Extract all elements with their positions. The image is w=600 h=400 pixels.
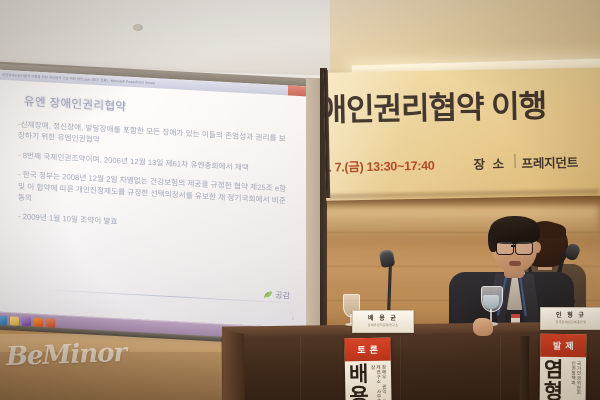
placard-affiliation: 국가인권위원회 인권정책과 bbox=[571, 361, 582, 400]
banner-title: 애인권리협약 이행 bbox=[324, 88, 547, 128]
slide-page-number: 2 bbox=[292, 316, 294, 321]
slide-paragraph: - 한국 정부는 2008년 12월 2일 차별없는 건강보험의 제공을 규정한… bbox=[18, 169, 290, 218]
speaker-badge-header bbox=[511, 314, 520, 318]
speaker-hair bbox=[490, 216, 540, 244]
speaker-ear bbox=[534, 242, 541, 253]
placard-body: 배 용 장애우 권익 문제연구소 사무총장 bbox=[345, 361, 392, 400]
wine-glass-liquid bbox=[483, 295, 499, 309]
projected-slide: 유엔장애인권리협약 이행을 위한 국내법적 기반 마련 방안.pptx [읽기 … bbox=[0, 70, 308, 329]
banner-date: 1. 7.(금) 13:30~17:40 bbox=[324, 155, 435, 176]
banner-venue: 프레지던트 bbox=[521, 152, 578, 172]
table-left-edge bbox=[222, 330, 245, 400]
ie-icon[interactable] bbox=[0, 315, 7, 324]
table-cloth-fold bbox=[300, 336, 301, 400]
slide-paragraph: -신체장애, 정신장애, 발달장애를 포함한 모든 장애가 있는 이들의 존엄성… bbox=[18, 119, 290, 157]
speaker-mouth bbox=[509, 261, 521, 266]
placard-role-header: 발제 bbox=[540, 334, 586, 357]
placard-backing bbox=[520, 336, 530, 400]
name-card-affiliation: 한국장애인단체총연맹 bbox=[556, 320, 587, 324]
name-card-affiliation: 장애우권익문제연구소 bbox=[368, 323, 399, 327]
placard-role: 토론 bbox=[353, 343, 382, 356]
media-player-icon[interactable] bbox=[22, 316, 31, 325]
photo-scene: 유엔장애인권리협약 이행을 위한 국내법적 기반 마련 방안.pptx [읽기 … bbox=[0, 0, 600, 400]
slide-body: -신체장애, 정신장애, 발달장애를 포함한 모든 장애가 있는 이들의 존엄성… bbox=[18, 119, 290, 246]
banner-venue-label: 장 소 bbox=[473, 153, 506, 173]
folder-icon[interactable] bbox=[10, 316, 19, 325]
event-banner: 애인권리협약 이행 1. 7.(금) 13:30~17:40 장 소 프레지던트 bbox=[324, 67, 600, 200]
organization-logo: 공감 bbox=[264, 289, 290, 301]
firefox-icon[interactable] bbox=[34, 317, 43, 326]
name-card-name: 배 용 균 bbox=[368, 316, 398, 323]
slide-title: 유엔 장애인권리협약 bbox=[24, 93, 126, 115]
eyeglasses-bridge-icon bbox=[511, 245, 516, 247]
leaf-icon bbox=[264, 290, 273, 299]
placard-affiliation: 장애우 권익 문제연구소 사무총장 bbox=[371, 365, 388, 400]
placard-body: 염 형 국가인권위원회 인권정책과 bbox=[540, 357, 586, 400]
organization-logo-text: 공감 bbox=[275, 290, 290, 302]
watermark: BeMinor bbox=[6, 338, 127, 372]
eyeglasses-right-lens-icon bbox=[515, 241, 533, 255]
name-card-name: 인 형 규 bbox=[556, 313, 586, 320]
slide-footer-rule bbox=[42, 289, 298, 304]
placard-discussant: 토론 배 용 장애우 권익 문제연구소 사무총장 bbox=[344, 338, 391, 400]
name-card: 배 용 균 장애우권익문제연구소 bbox=[352, 310, 414, 333]
placard-presenter: 발제 염 형 국가인권위원회 인권정책과 bbox=[540, 334, 587, 400]
placard-role: 발제 bbox=[549, 339, 578, 352]
speaker-hand bbox=[473, 318, 493, 336]
name-card: 인 형 규 한국장애인단체총연맹 bbox=[540, 307, 600, 330]
powerpoint-icon[interactable] bbox=[46, 318, 55, 327]
table-cloth-fold bbox=[500, 336, 501, 400]
banner-sheen bbox=[324, 67, 600, 200]
table-cloth-fold bbox=[400, 336, 401, 400]
window-close-button[interactable] bbox=[288, 85, 308, 96]
smoke-detector-icon bbox=[133, 24, 143, 31]
placard-role-header: 토론 bbox=[344, 338, 390, 362]
eyeglasses-left-lens-icon bbox=[496, 241, 514, 255]
